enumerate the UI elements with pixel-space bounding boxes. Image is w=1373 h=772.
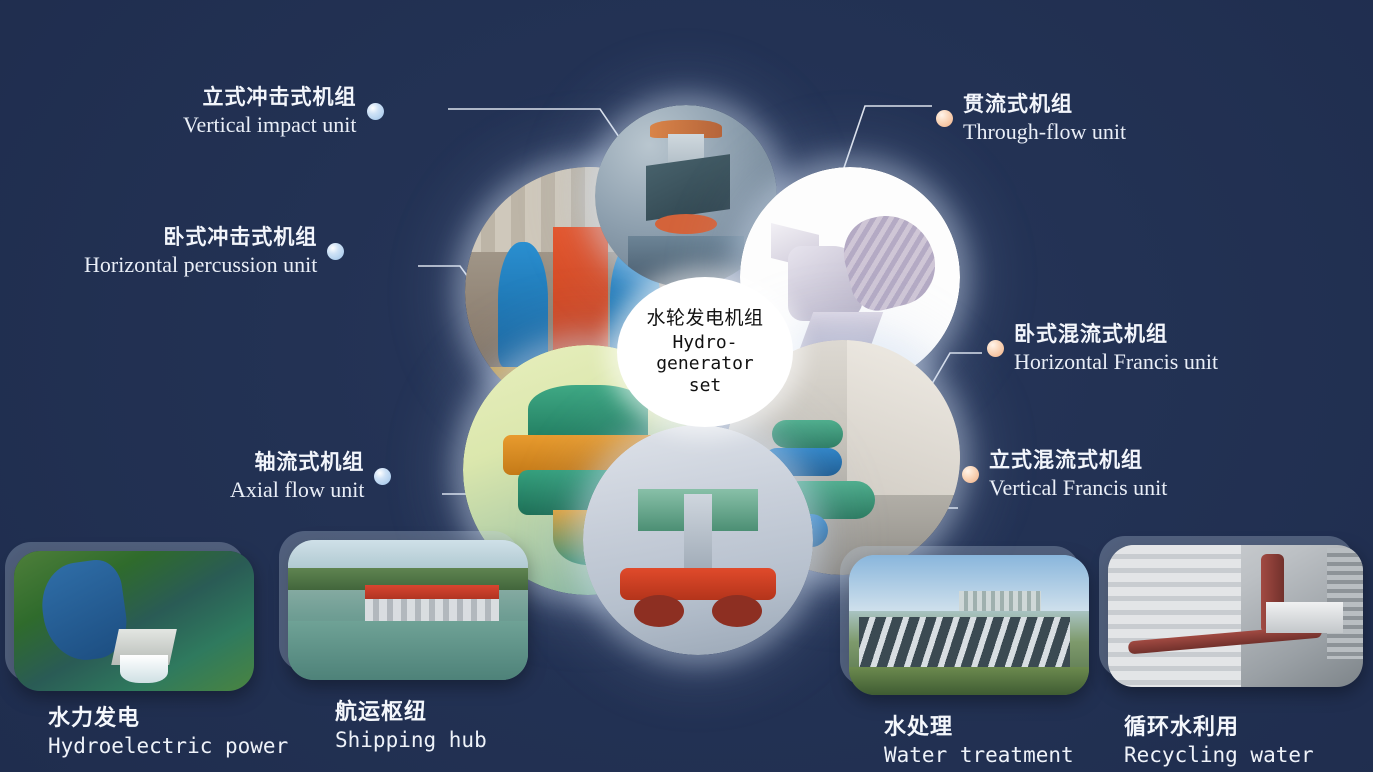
- callout-horizontal-percussion-cn: 卧式冲击式机组: [84, 225, 317, 251]
- center-label-cn: 水轮发电机组: [646, 308, 763, 330]
- photo-card-recycling-water[interactable]: [1108, 545, 1363, 687]
- photo-hydroelectric-power: [14, 551, 254, 691]
- callout-through-flow-en: Through-flow unit: [963, 119, 1126, 145]
- caption-shipping-hub-en: Shipping hub: [335, 727, 487, 753]
- caption-shipping-hub-cn: 航运枢纽: [335, 699, 487, 725]
- photo-recycling-water: [1108, 545, 1363, 687]
- callout-vertical-impact-cn: 立式冲击式机组: [183, 85, 357, 111]
- callout-vertical-francis-en: Vertical Francis unit: [989, 475, 1167, 501]
- center-label-en-line3: set: [656, 375, 754, 396]
- caption-hydroelectric-power-en: Hydroelectric power: [48, 733, 288, 759]
- callout-axial-flow-cn: 轴流式机组: [230, 450, 364, 476]
- photo-water-treatment: [849, 555, 1089, 695]
- infographic-canvas: 水轮发电机组 Hydro- generator set 立式冲击式机组 Vert…: [0, 0, 1373, 772]
- callout-vertical-impact[interactable]: 立式冲击式机组 Vertical impact unit: [183, 85, 384, 139]
- callout-vertical-francis[interactable]: 立式混流式机组 Vertical Francis unit: [962, 448, 1167, 502]
- center-label: 水轮发电机组 Hydro- generator set: [617, 277, 793, 427]
- callout-dot-icon: [987, 340, 1004, 357]
- callout-through-flow-cn: 贯流式机组: [963, 92, 1126, 118]
- callout-dot-icon: [374, 468, 391, 485]
- caption-water-treatment: 水处理 Water treatment: [884, 714, 1074, 769]
- photo-card-shipping-hub[interactable]: [288, 540, 528, 680]
- callout-axial-flow-en: Axial flow unit: [230, 477, 364, 503]
- caption-hydroelectric-power-cn: 水力发电: [48, 705, 288, 731]
- center-label-en-line2: generator: [656, 353, 754, 374]
- callout-dot-icon: [327, 243, 344, 260]
- caption-recycling-water-en: Recycling water: [1124, 742, 1314, 768]
- callout-horizontal-francis-cn: 卧式混流式机组: [1014, 322, 1218, 348]
- callout-horizontal-francis[interactable]: 卧式混流式机组 Horizontal Francis unit: [987, 322, 1218, 376]
- caption-water-treatment-en: Water treatment: [884, 742, 1074, 768]
- callout-dot-icon: [367, 103, 384, 120]
- callout-axial-flow[interactable]: 轴流式机组 Axial flow unit: [230, 450, 391, 504]
- callout-horizontal-percussion-en: Horizontal percussion unit: [84, 252, 317, 278]
- callout-dot-icon: [936, 110, 953, 127]
- photo-card-water-treatment[interactable]: [849, 555, 1089, 695]
- callout-horizontal-francis-en: Horizontal Francis unit: [1014, 349, 1218, 375]
- hydro-generator-circle-cluster: 水轮发电机组 Hydro- generator set: [455, 105, 945, 575]
- callout-horizontal-percussion[interactable]: 卧式冲击式机组 Horizontal percussion unit: [84, 225, 344, 279]
- photo-vertical-francis: [583, 425, 813, 655]
- callout-through-flow[interactable]: 贯流式机组 Through-flow unit: [936, 92, 1126, 146]
- caption-recycling-water: 循环水利用 Recycling water: [1124, 714, 1314, 769]
- photo-circle-vertical-francis[interactable]: [583, 425, 813, 655]
- callout-vertical-impact-en: Vertical impact unit: [183, 112, 357, 138]
- center-label-en: Hydro- generator set: [656, 332, 754, 396]
- center-label-en-line1: Hydro-: [656, 332, 754, 353]
- caption-hydroelectric-power: 水力发电 Hydroelectric power: [48, 705, 288, 760]
- photo-shipping-hub: [288, 540, 528, 680]
- callout-dot-icon: [962, 466, 979, 483]
- caption-shipping-hub: 航运枢纽 Shipping hub: [335, 699, 487, 754]
- caption-water-treatment-cn: 水处理: [884, 714, 1074, 740]
- caption-recycling-water-cn: 循环水利用: [1124, 714, 1314, 740]
- callout-vertical-francis-cn: 立式混流式机组: [989, 448, 1167, 474]
- photo-card-hydroelectric-power[interactable]: [14, 551, 254, 691]
